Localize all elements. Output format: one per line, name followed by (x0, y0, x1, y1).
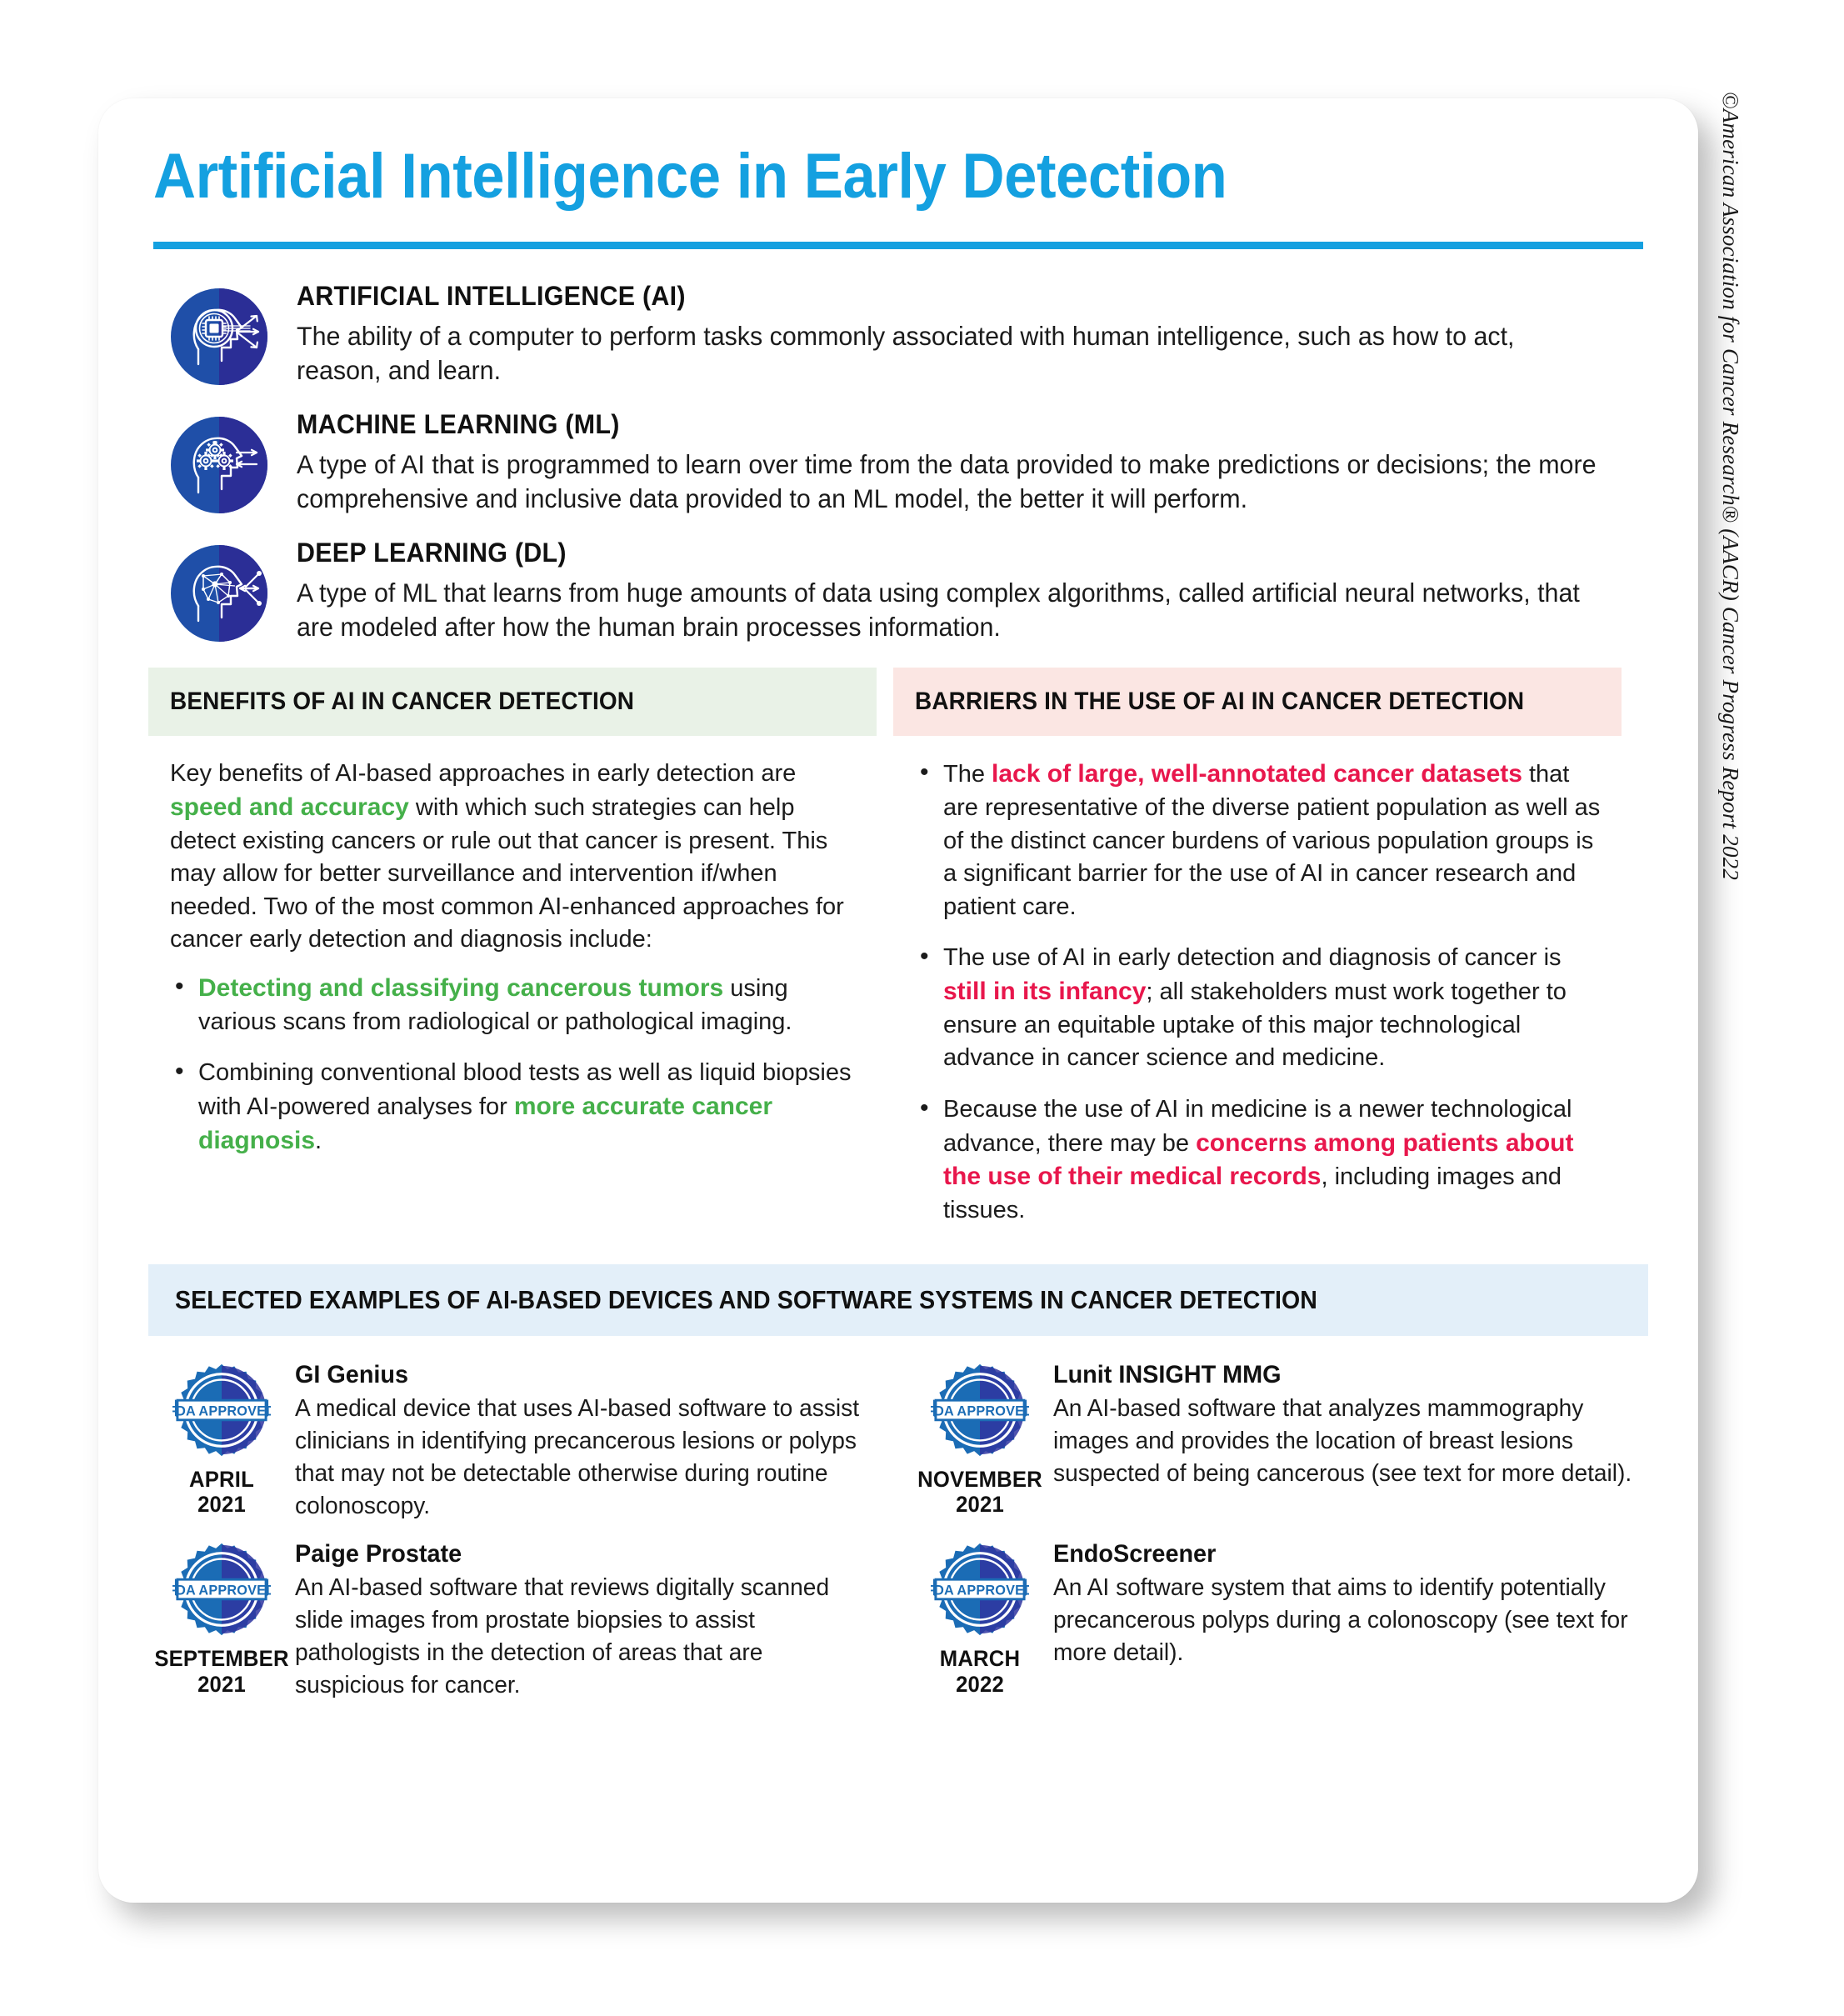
benefits-barriers-section: BENEFITS OF AI IN CANCER DETECTION Key b… (148, 668, 1648, 1246)
definitions-section: ARTIFICIAL INTELLIGENCE (AI) The ability… (148, 279, 1648, 646)
benefits-highlight-speed-accuracy: speed and accuracy (170, 793, 409, 821)
list-item: Because the use of AI in medicine is a n… (915, 1093, 1607, 1228)
example-date: NOVEMBER 2021 (910, 1467, 1049, 1517)
definition-row: ARTIFICIAL INTELLIGENCE (AI) The ability… (148, 279, 1648, 389)
examples-header-label: SELECTED EXAMPLES OF AI-BASED DEVICES AN… (175, 1285, 1317, 1315)
example-month: NOVEMBER (910, 1467, 1049, 1492)
example-item: FDA APPROVED SEPTEMBER 2021 Paige Prosta… (148, 1537, 898, 1701)
fda-approved-badge-icon: FDA APPROVED (931, 1361, 1029, 1459)
title-underline-rule (153, 242, 1643, 249)
copyright-notice: ©American Association for Cancer Researc… (1717, 92, 1743, 1075)
example-description: An AI-based software that reviews digita… (295, 1572, 874, 1701)
benefits-bullet-1-text-end: . (315, 1128, 322, 1154)
example-month: APRIL (152, 1467, 291, 1492)
infographic-page: ©American Association for Cancer Researc… (0, 0, 1844, 2016)
definition-row: DEEP LEARNING (DL) A type of ML that lea… (148, 536, 1648, 646)
example-description: An AI software system that aims to ident… (1053, 1572, 1632, 1669)
barriers-bullet-1-before: The use of AI in early detection and dia… (943, 944, 1562, 971)
barriers-highlight-datasets: lack of large, well-annotated cancer dat… (992, 760, 1522, 788)
benefits-paragraph: Key benefits of AI-based approaches in e… (170, 758, 862, 957)
example-item: FDA APPROVED APRIL 2021 GI Genius A medi… (148, 1358, 898, 1522)
example-badge-wrap: FDA APPROVED MARCH 2022 (907, 1537, 1053, 1696)
benefits-highlight-detecting: Detecting and classifying cancerous tumo… (198, 974, 723, 1002)
example-badge-wrap: FDA APPROVED APRIL 2021 (148, 1358, 295, 1517)
fda-approved-badge-icon: FDA APPROVED (172, 1540, 271, 1638)
example-badge-wrap: FDA APPROVED NOVEMBER 2021 (907, 1358, 1053, 1517)
benefits-body: Key benefits of AI-based approaches in e… (148, 736, 877, 1158)
example-name: EndoScreener (1053, 1540, 1626, 1568)
definition-description: A type of ML that learns from huge amoun… (297, 576, 1601, 644)
example-date: APRIL 2021 (152, 1467, 291, 1517)
examples-grid: FDA APPROVED APRIL 2021 GI Genius A medi… (148, 1358, 1648, 1702)
barriers-body: The lack of large, well-annotated cancer… (893, 736, 1622, 1228)
benefits-paragraph-part1: Key benefits of AI-based approaches in e… (170, 760, 796, 787)
example-date: MARCH 2022 (910, 1646, 1049, 1696)
head-neural-network-icon (167, 541, 272, 646)
example-year: 2021 (152, 1672, 291, 1697)
example-name: GI Genius (295, 1361, 867, 1389)
benefits-column: BENEFITS OF AI IN CANCER DETECTION Key b… (148, 668, 877, 1246)
fda-approved-badge-label: FDA APPROVED (931, 1403, 1029, 1418)
barriers-bullet-list: The lack of large, well-annotated cancer… (915, 758, 1607, 1228)
definition-description: The ability of a computer to perform tas… (297, 319, 1601, 388)
example-year: 2021 (910, 1492, 1049, 1517)
page-title: Artificial Intelligence in Early Detecti… (153, 138, 1543, 208)
barriers-bullet-0-before: The (943, 761, 992, 788)
definition-term: MACHINE LEARNING (ML) (297, 409, 1581, 440)
definition-term: ARTIFICIAL INTELLIGENCE (AI) (297, 281, 1581, 312)
example-date: SEPTEMBER 2021 (152, 1646, 291, 1696)
benefits-bullet-list: Detecting and classifying cancerous tumo… (170, 972, 862, 1158)
barriers-header-label: BARRIERS IN THE USE OF AI IN CANCER DETE… (915, 688, 1524, 716)
fda-approved-badge-label: FDA APPROVED (931, 1583, 1029, 1598)
example-badge-wrap: FDA APPROVED SEPTEMBER 2021 (148, 1537, 295, 1696)
fda-approved-badge-icon: FDA APPROVED (931, 1540, 1029, 1638)
example-description: An AI-based software that analyzes mammo… (1053, 1393, 1632, 1490)
infographic-card: Artificial Intelligence in Early Detecti… (98, 98, 1698, 1903)
example-description: A medical device that uses AI-based soft… (295, 1393, 874, 1522)
fda-approved-badge-icon: FDA APPROVED (172, 1361, 271, 1459)
fda-approved-badge-label: FDA APPROVED (172, 1583, 271, 1598)
example-year: 2021 (152, 1492, 291, 1517)
list-item: Combining conventional blood tests as we… (170, 1057, 862, 1158)
barriers-header: BARRIERS IN THE USE OF AI IN CANCER DETE… (893, 668, 1622, 736)
example-item: FDA APPROVED MARCH 2022 EndoScreener An … (907, 1537, 1657, 1701)
example-name: Lunit INSIGHT MMG (1053, 1361, 1626, 1389)
head-chip-icon (167, 284, 272, 389)
example-month: MARCH (910, 1646, 1049, 1671)
fda-approved-badge-label: FDA APPROVED (172, 1403, 271, 1418)
definition-row: MACHINE LEARNING (ML) A type of AI that … (148, 408, 1648, 518)
list-item: The use of AI in early detection and dia… (915, 942, 1607, 1075)
barriers-column: BARRIERS IN THE USE OF AI IN CANCER DETE… (893, 668, 1622, 1246)
benefits-header-label: BENEFITS OF AI IN CANCER DETECTION (170, 688, 634, 716)
example-month: SEPTEMBER (152, 1646, 291, 1671)
head-gears-icon (167, 413, 272, 518)
list-item: The lack of large, well-annotated cancer… (915, 758, 1607, 923)
examples-header: SELECTED EXAMPLES OF AI-BASED DEVICES AN… (148, 1264, 1648, 1336)
barriers-highlight-infancy: still in its infancy (943, 978, 1146, 1005)
example-name: Paige Prostate (295, 1540, 867, 1568)
example-item: FDA APPROVED NOVEMBER 2021 Lunit INSIGHT… (907, 1358, 1657, 1522)
list-item: Detecting and classifying cancerous tumo… (170, 972, 862, 1039)
benefits-header: BENEFITS OF AI IN CANCER DETECTION (148, 668, 877, 736)
example-year: 2022 (910, 1672, 1049, 1697)
definition-description: A type of AI that is programmed to learn… (297, 448, 1601, 516)
definition-term: DEEP LEARNING (DL) (297, 538, 1581, 568)
